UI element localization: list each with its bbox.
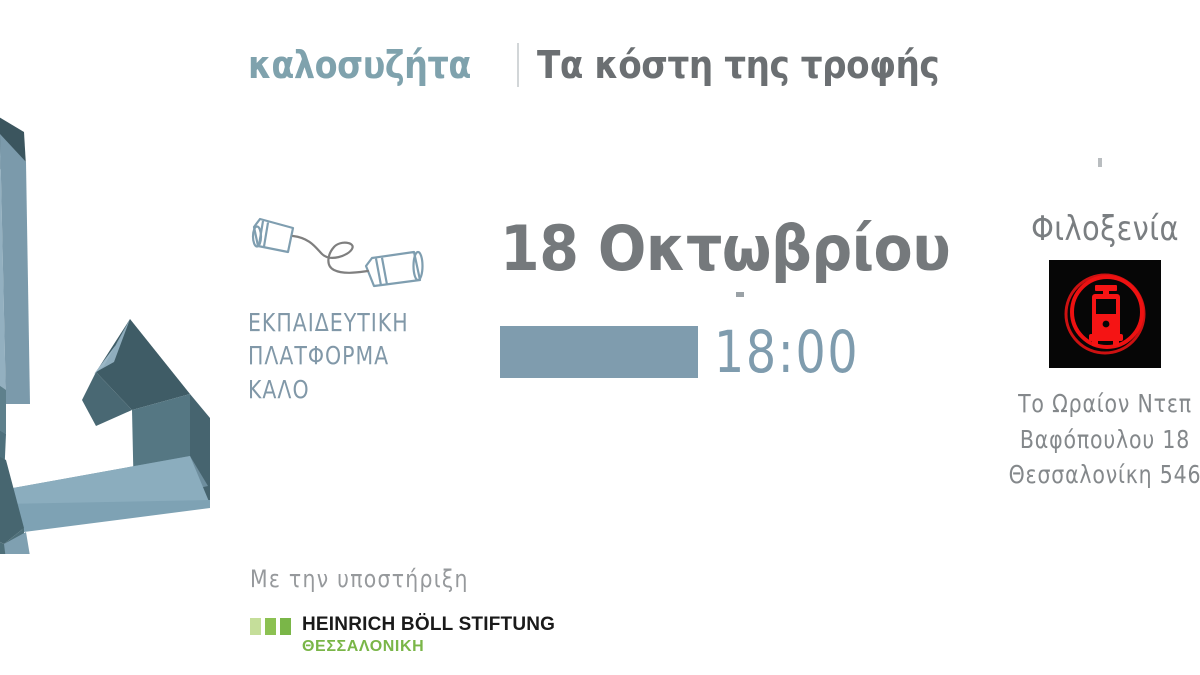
venue-address-line2: Βαφόπουλου 18	[986, 422, 1200, 458]
tin-can-telephone-icon	[248, 214, 458, 294]
funder-name: HEINRICH BÖLL STIFTUNG	[302, 615, 555, 634]
event-poster: καλοσυζήτα Τα κόστη της τροφής	[0, 0, 1200, 675]
title-divider	[517, 43, 519, 87]
venue-address-line3: Θεσσαλονίκη 546	[986, 457, 1200, 493]
top-right-tick-mark	[1098, 158, 1102, 167]
event-date-block: 18 Οκτωβρίου 18:00	[500, 218, 920, 380]
platform-name-line1: ΕΚΠΑΙΔΕΥΤΙΚΗ	[248, 306, 420, 339]
heinrich-boll-stiftung-logo: HEINRICH BÖLL STIFTUNG ΘΕΣΣΑΛΟΝΙΚΗ	[250, 615, 550, 655]
platform-name-line3: ΚΑΛΟ	[248, 373, 420, 406]
event-time-row: 18:00	[500, 324, 920, 380]
platform-name-line2: ΠΛΑΤΦΟΡΜΑ	[248, 339, 420, 372]
venue-address-line1: Το Ωραίον Ντεπ	[986, 386, 1200, 422]
time-accent-bar	[500, 326, 698, 378]
funder-city: ΘΕΣΣΑΛΟΝΙΚΗ	[302, 639, 555, 655]
support-block: Με την υποστήριξη HEINRICH BÖLL STIFTUNG…	[250, 567, 550, 655]
time-tick-mark	[736, 292, 744, 297]
poster-header: καλοσυζήτα Τα κόστη της τροφής	[248, 38, 984, 92]
brand-name: καλοσυζήτα	[248, 46, 471, 84]
kalo-3d-logo-mark	[0, 104, 254, 554]
platform-name: ΕΚΠΑΙΔΕΥΤΙΚΗ ΠΛΑΤΦΟΡΜΑ ΚΑΛΟ	[248, 306, 420, 406]
event-time: 18:00	[714, 323, 859, 381]
venue-block: Φιλοξενία Το Ωραίον Ντεπ Βαφόπ	[960, 212, 1200, 493]
venue-address: Το Ωραίον Ντεπ Βαφόπουλου 18 Θεσσαλονίκη…	[986, 386, 1200, 493]
support-label: Με την υποστήριξη	[250, 567, 505, 591]
venue-heading: Φιλοξενία	[982, 212, 1200, 246]
platform-block: ΕΚΠΑΙΔΕΥΤΙΚΗ ΠΛΑΤΦΟΡΜΑ ΚΑΛΟ	[248, 214, 458, 406]
hbs-bars-icon	[250, 618, 291, 635]
to-oraion-depot-tram-logo	[1049, 260, 1161, 368]
hbs-wordmark: HEINRICH BÖLL STIFTUNG ΘΕΣΣΑΛΟΝΙΚΗ	[302, 615, 555, 655]
page-title: Τα κόστη της τροφής	[537, 46, 939, 84]
event-date: 18 Οκτωβρίου	[500, 218, 886, 280]
